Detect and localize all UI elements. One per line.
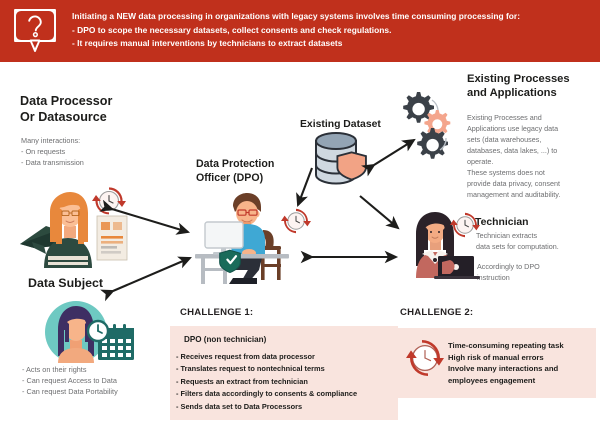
arrow-dataset-to-technician [360,196,398,228]
challenge-2-item: employees engagement [448,375,598,387]
challenge-1-item: - Requests an extract from technician [176,376,396,388]
arrow-ds-to-dpo [113,258,190,291]
challenge-1-item: - Translates request to nontechnical ter… [176,363,396,375]
challenge-1-list: - Receives request from data processor -… [176,351,396,413]
challenge-1-label: CHALLENGE 1: [180,307,253,318]
challenge-1-item: - Filters data accordingly to consents &… [176,388,396,400]
challenge-2-item: High risk of manual errors [448,352,598,364]
challenge-1-item: - Receives request from data processor [176,351,396,363]
arrow-dataset-to-gears [374,140,414,165]
challenge-1-item: - Sends data set to Data Processors [176,401,396,413]
challenge-2-list: Time-consuming repeating task High risk … [448,340,598,387]
arrow-dp-to-dpo [112,209,188,232]
infographic-canvas: Initiating a NEW data processing in orga… [0,0,600,424]
arrow-dataset-to-dpo [298,168,312,205]
clock-refresh-icon [405,338,445,378]
challenge-2-label: CHALLENGE 2: [400,307,473,318]
challenge-2-item: Involve many interactions and [448,363,598,375]
challenge-1-heading: DPO (non technician) [184,335,266,344]
challenge-2-item: Time-consuming repeating task [448,340,598,352]
